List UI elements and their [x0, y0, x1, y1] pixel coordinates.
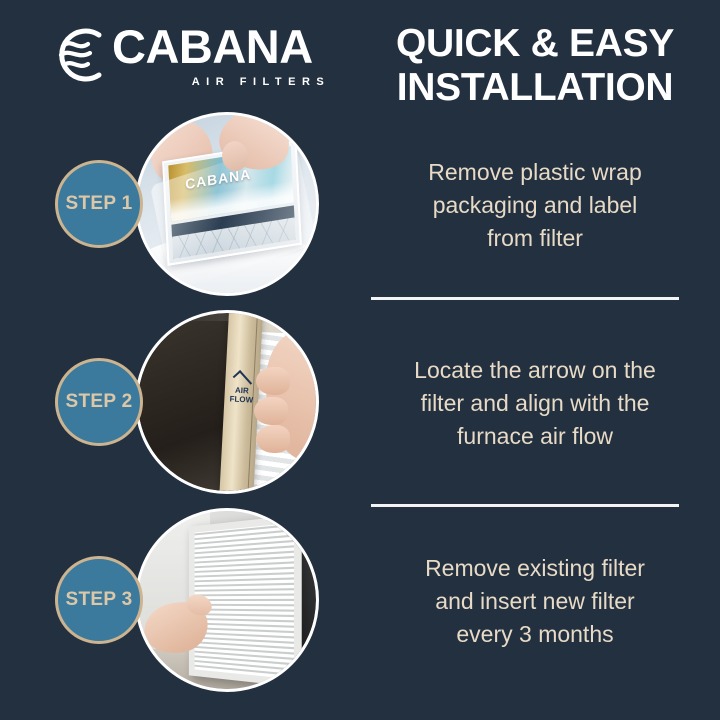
page-title: QUICK & EASY INSTALLATION [368, 22, 702, 110]
step-1-description: Remove plastic wrap packaging and label … [368, 156, 702, 255]
step-row-3: STEP 3 Remove existing filter and insert… [0, 508, 720, 693]
section-divider-1 [371, 297, 679, 300]
brand-logo: CABANA AIR FILTERS [52, 22, 352, 94]
step-1-line-1: Remove plastic wrap [368, 156, 702, 189]
step-2-line-2: filter and align with the [368, 387, 702, 420]
finger-3 [256, 425, 290, 453]
step-2-description: Locate the arrow on the filter and align… [368, 354, 702, 453]
air-flow-arrow-icon: AIR FLOW [229, 374, 254, 399]
installation-instructions-graphic: CABANA AIR FILTERS QUICK & EASY INSTALLA… [0, 0, 720, 720]
step-2-photo: AIR FLOW [135, 310, 319, 494]
step-3-line-3: every 3 months [368, 618, 702, 651]
headline-line-1: QUICK & EASY [368, 22, 702, 66]
step-3-description: Remove existing filter and insert new fi… [368, 552, 702, 651]
finger-1 [256, 367, 290, 395]
step-2-badge: STEP 2 [55, 358, 143, 446]
step-3-badge: STEP 3 [55, 556, 143, 644]
filter-label-brand: CABANA [185, 166, 252, 192]
step-row-2: AIR FLOW STEP 2 Locate the arrow on the … [0, 310, 720, 495]
cabana-wave-circle-icon [52, 26, 114, 84]
brand-subtitle: AIR FILTERS [170, 76, 352, 88]
step-1-line-2: packaging and label [368, 189, 702, 222]
finger-2 [254, 397, 288, 425]
step-1-badge: STEP 1 [55, 160, 143, 248]
step-2-scene: AIR FLOW [138, 313, 316, 491]
brand-name: CABANA [112, 22, 352, 72]
step-3-scene [138, 511, 316, 689]
step-1-photo: CABANA [135, 112, 319, 296]
air-flow-label-bottom: FLOW [229, 394, 253, 404]
step-3-line-1: Remove existing filter [368, 552, 702, 585]
step-row-1: CABANA STEP 1 Remove plastic wrap packag… [0, 112, 720, 297]
headline-line-2: INSTALLATION [368, 66, 702, 110]
step-3-line-2: and insert new filter [368, 585, 702, 618]
step-2-line-3: furnace air flow [368, 420, 702, 453]
step-3-photo [135, 508, 319, 692]
section-divider-2 [371, 504, 679, 507]
step-1-scene: CABANA [138, 115, 316, 293]
step-1-line-3: from filter [368, 222, 702, 255]
step-2-line-1: Locate the arrow on the [368, 354, 702, 387]
